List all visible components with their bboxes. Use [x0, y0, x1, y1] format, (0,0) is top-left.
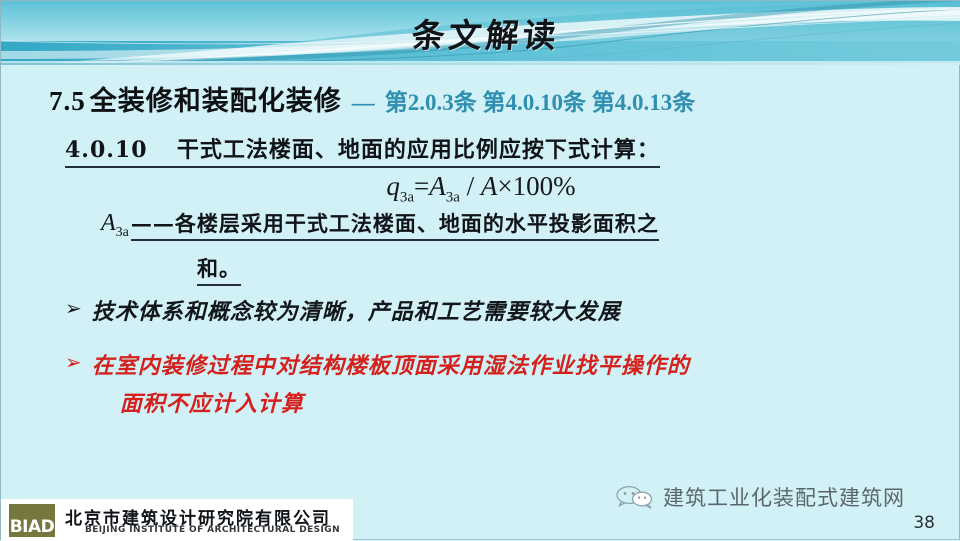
section-dash: — — [352, 90, 375, 115]
banner-artwork — [1, 1, 960, 65]
definition-row-1: A3a ——各楼层采用干式工法楼面、地面的水平投影面积之 — [101, 208, 931, 241]
clause-heading: 4.0.10 干式工法楼面、地面的应用比例应按下式计算： — [65, 132, 660, 168]
bullet-item-1: ➢ 技术体系和概念较为清晰，产品和工艺需要较大发展 — [65, 293, 621, 331]
bullet-text-2-line-2: 面积不应计入计算 — [120, 385, 690, 423]
clause-heading-text: 干式工法楼面、地面的应用比例应按下式计算： — [177, 137, 660, 163]
definition-symbol-letter: A — [101, 210, 116, 236]
definition-line-1-text: 各楼层采用干式工法楼面、地面的水平投影面积之 — [175, 211, 659, 236]
formula-denominator: A — [481, 171, 498, 201]
definition-symbol-sub: 3a — [116, 225, 129, 240]
biad-logo: BIAD — [9, 504, 55, 537]
bullet-item-2: ➢ 在室内装修过程中对结构楼板顶面采用湿法作业找平操作的 面积不应计入计算 — [65, 347, 690, 423]
banner-divider — [1, 63, 960, 65]
definition-block: A3a ——各楼层采用干式工法楼面、地面的水平投影面积之 和。 — [101, 208, 931, 286]
clause-number: 4.0.10 — [65, 137, 148, 163]
company-name-en: BEIJING INSTITUTE OF ARCHITECTURAL DESIG… — [85, 525, 340, 535]
formula-lhs-sub: 3a — [400, 189, 414, 205]
formula-lhs-symbol: q — [386, 171, 400, 201]
slide-canvas: 条文解读 7.5 全装修和装配化装修 — 第2.0.3条 第4.0.10条 第4… — [0, 0, 960, 540]
section-number: 7.5 — [49, 86, 86, 116]
definition-dash: —— — [131, 211, 175, 236]
formula-divider: / — [467, 171, 475, 201]
biad-logo-text: BIAD — [10, 517, 55, 537]
definition-line-2: 和。 — [197, 253, 241, 286]
wechat-account-label: 建筑工业化装配式建筑网 — [663, 482, 905, 512]
formula-times: × — [497, 171, 512, 201]
bullet-text-2: 在室内装修过程中对结构楼板顶面采用湿法作业找平操作的 面积不应计入计算 — [92, 347, 690, 423]
wechat-icon — [615, 484, 655, 510]
formula-equals: = — [414, 171, 429, 201]
formula-percent: 100% — [513, 171, 576, 201]
bullet-text-1: 技术体系和概念较为清晰，产品和工艺需要较大发展 — [92, 293, 621, 331]
section-title-text: 全装修和装配化装修 — [90, 86, 342, 116]
section-title: 7.5 全装修和装配化装修 — 第2.0.3条 第4.0.10条 第4.0.13… — [49, 79, 695, 118]
formula-rhs-sub: 3a — [446, 189, 460, 205]
header-banner: 条文解读 — [1, 1, 960, 65]
formula-rhs-symbol: A — [429, 171, 446, 201]
page-number: 38 — [913, 513, 935, 533]
bullet-arrow-icon: ➢ — [65, 347, 92, 377]
bullet-arrow-icon: ➢ — [65, 293, 92, 323]
definition-line-1: ——各楼层采用干式工法楼面、地面的水平投影面积之 — [131, 208, 659, 241]
formula: q3a=A3a / A×100% — [1, 171, 960, 206]
section-refs: 第2.0.3条 第4.0.10条 第4.0.13条 — [385, 90, 696, 115]
bullet-text-2-line-1: 在室内装修过程中对结构楼板顶面采用湿法作业找平操作的 — [92, 353, 690, 379]
definition-symbol: A3a — [101, 210, 131, 241]
wechat-account-block: 建筑工业化装配式建筑网 — [615, 482, 905, 512]
